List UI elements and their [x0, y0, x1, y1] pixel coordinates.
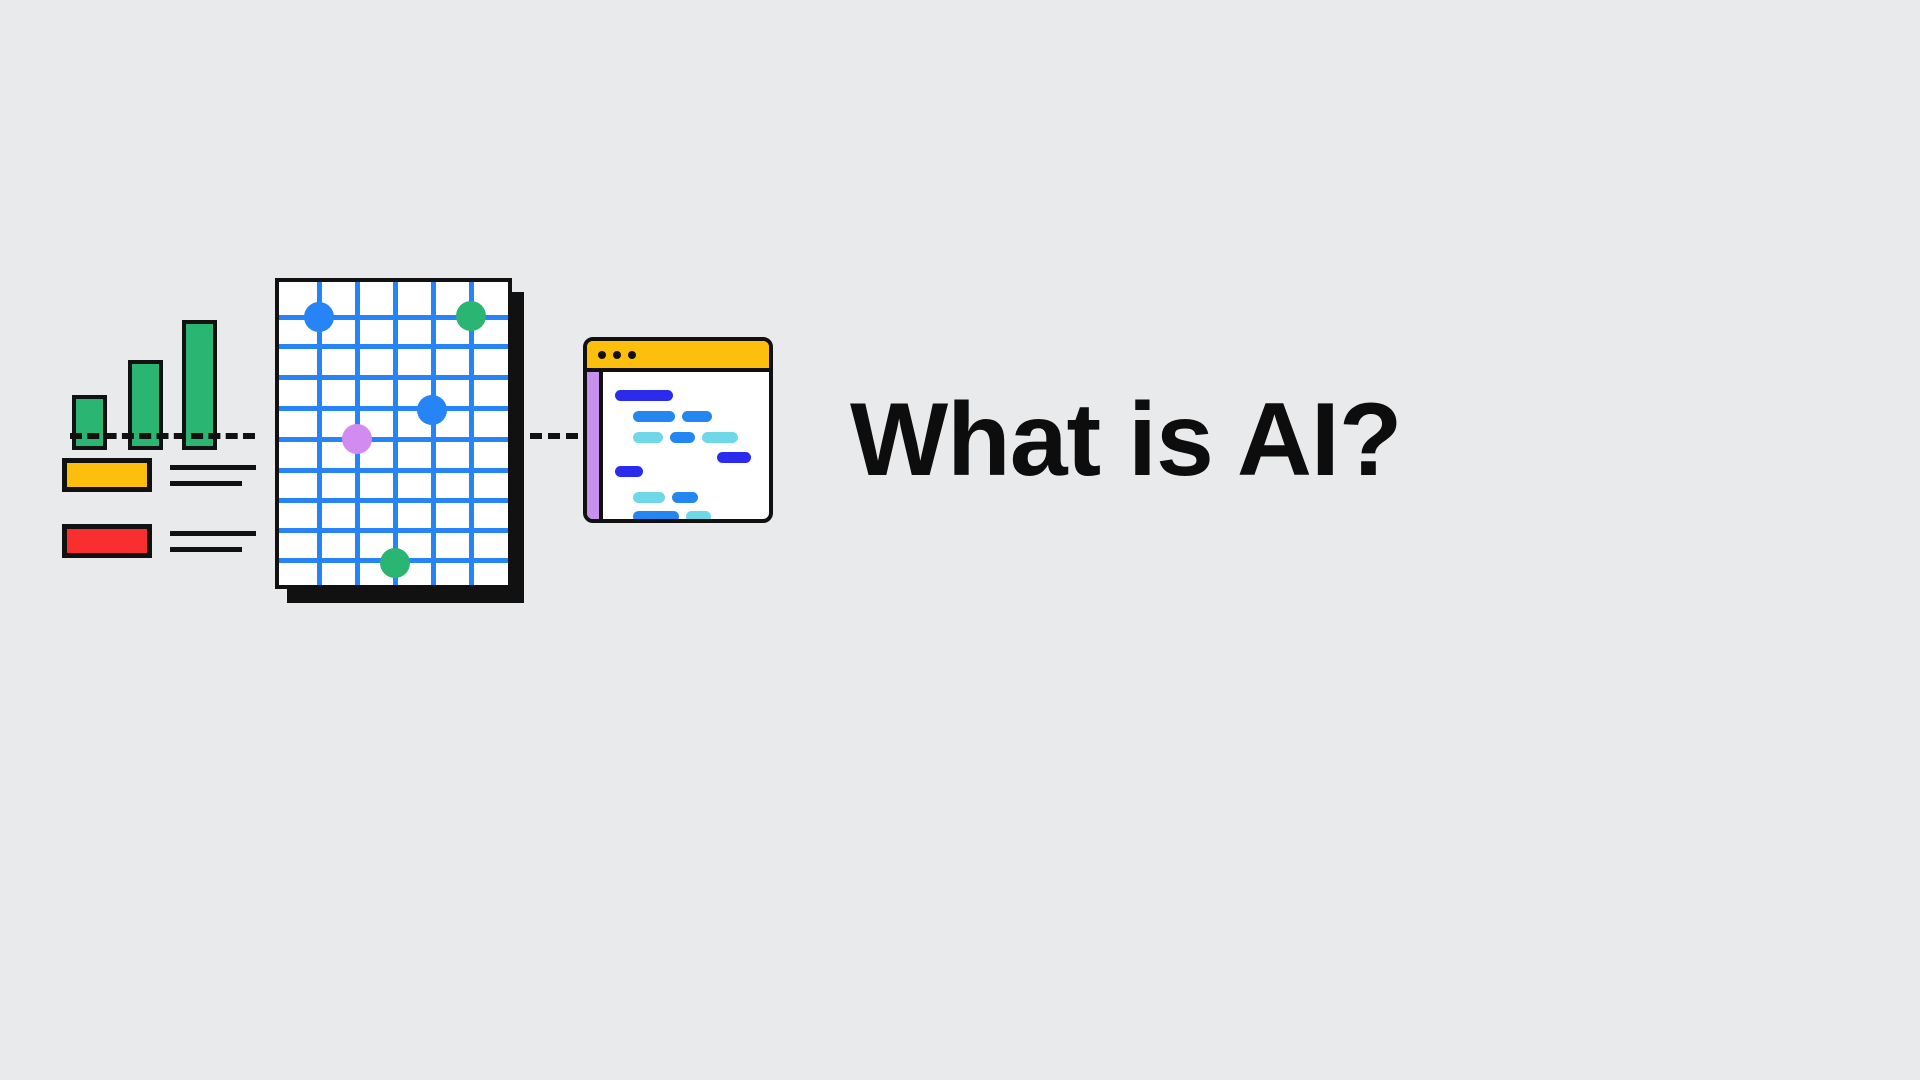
code-line [615, 466, 643, 477]
legend-line [170, 547, 242, 552]
bar-3 [182, 320, 217, 450]
code-token [717, 452, 751, 463]
legend-line [170, 465, 256, 470]
code-token [615, 390, 673, 401]
bar-chart [60, 330, 280, 450]
code-line [633, 411, 712, 422]
window-minimize-dot-icon[interactable] [613, 351, 621, 359]
scatter-dot-green-2 [380, 548, 410, 578]
bar-1 [72, 395, 107, 450]
code-line [633, 492, 698, 503]
illustration-canvas: What is AI? [0, 0, 1920, 1080]
gridline-horizontal [279, 375, 508, 380]
code-line [633, 511, 711, 522]
gridline-vertical [431, 282, 436, 585]
legend-label-lines-yellow [170, 465, 256, 486]
code-token [615, 466, 643, 477]
code-token [633, 411, 675, 422]
code-line [717, 452, 751, 463]
window-maximize-dot-icon[interactable] [628, 351, 636, 359]
scatter-grid-card [275, 278, 525, 603]
code-line [615, 390, 673, 401]
code-token [633, 511, 679, 522]
editor-sidebar-rail [587, 372, 603, 519]
scatter-dot-blue-1 [304, 302, 334, 332]
legend-swatch-red [62, 524, 152, 558]
code-token [702, 432, 738, 443]
legend-item-yellow [62, 458, 256, 492]
legend-label-lines-red [170, 531, 256, 552]
gridline-vertical [393, 282, 398, 585]
gridline-horizontal [279, 437, 508, 442]
gridline-horizontal [279, 498, 508, 503]
scatter-dot-green-1 [456, 301, 486, 331]
window-close-dot-icon[interactable] [598, 351, 606, 359]
legend-item-red [62, 524, 256, 558]
gridline-horizontal [279, 528, 508, 533]
code-token [686, 511, 711, 522]
legend-line [170, 531, 256, 536]
scatter-grid-surface [275, 278, 512, 589]
code-token [672, 492, 698, 503]
window-titlebar [587, 341, 769, 372]
code-line [633, 432, 738, 443]
dashed-rule-bars [70, 433, 255, 439]
gridline-horizontal [279, 344, 508, 349]
gridline-horizontal [279, 406, 508, 411]
legend-swatch-yellow [62, 458, 152, 492]
editor-code-area [607, 372, 769, 519]
scatter-dot-blue-2 [417, 395, 447, 425]
gridline-horizontal [279, 468, 508, 473]
page-title: What is AI? [850, 388, 1401, 492]
scatter-dot-purple-1 [342, 424, 372, 454]
code-editor-window [583, 337, 773, 523]
code-token [633, 492, 665, 503]
code-token [670, 432, 695, 443]
legend-line [170, 481, 242, 486]
code-token [682, 411, 712, 422]
code-token [633, 432, 663, 443]
dashed-connector-grid-to-code [530, 433, 578, 439]
